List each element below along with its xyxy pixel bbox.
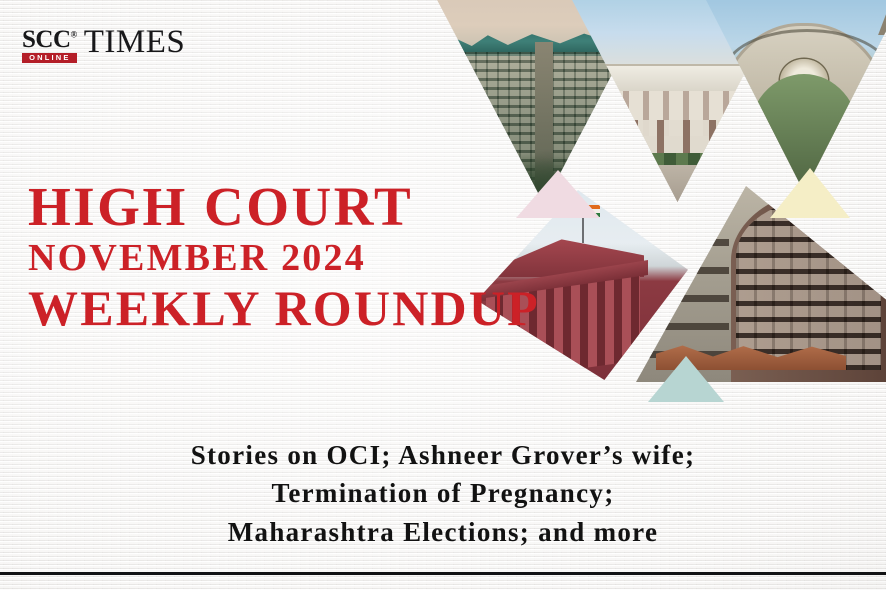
registered-trademark-icon: ® bbox=[71, 30, 77, 40]
scc-online-times-logo[interactable]: SCC® ONLINE TIMES bbox=[22, 28, 185, 63]
subtitle-line-2: Termination of Pregnancy; bbox=[14, 474, 872, 512]
accent-triangle-cream bbox=[770, 168, 850, 218]
logo-times-wordmark: TIMES bbox=[84, 26, 186, 59]
modern-block-window-grid bbox=[736, 198, 881, 370]
headline-block: HIGH COURT NOVEMBER 2024 WEEKLY ROUNDUP bbox=[28, 178, 540, 336]
logo-online-banner: ONLINE bbox=[22, 53, 77, 64]
poster-canvas: SCC® ONLINE TIMES bbox=[0, 0, 886, 590]
jk-arch-finial bbox=[878, 12, 886, 36]
headline-line-month-year: NOVEMBER 2024 bbox=[28, 236, 540, 281]
logo-scc-text: SCC bbox=[22, 26, 71, 53]
bottom-divider-rule bbox=[0, 572, 886, 575]
subtitle-block: Stories on OCI; Ashneer Grover’s wife; T… bbox=[0, 436, 886, 551]
white-courthouse-fountain bbox=[600, 173, 665, 198]
logo-scc-block: SCC® ONLINE bbox=[22, 28, 77, 63]
jk-arch-opening bbox=[748, 74, 860, 192]
logo-scc-wordmark: SCC® bbox=[22, 28, 77, 52]
subtitle-line-1: Stories on OCI; Ashneer Grover’s wife; bbox=[14, 436, 872, 474]
subtitle-line-3: Maharashtra Elections; and more bbox=[14, 513, 872, 551]
headline-line-high-court: HIGH COURT bbox=[28, 178, 540, 236]
headline-line-weekly-roundup: WEEKLY ROUNDUP bbox=[28, 281, 540, 336]
